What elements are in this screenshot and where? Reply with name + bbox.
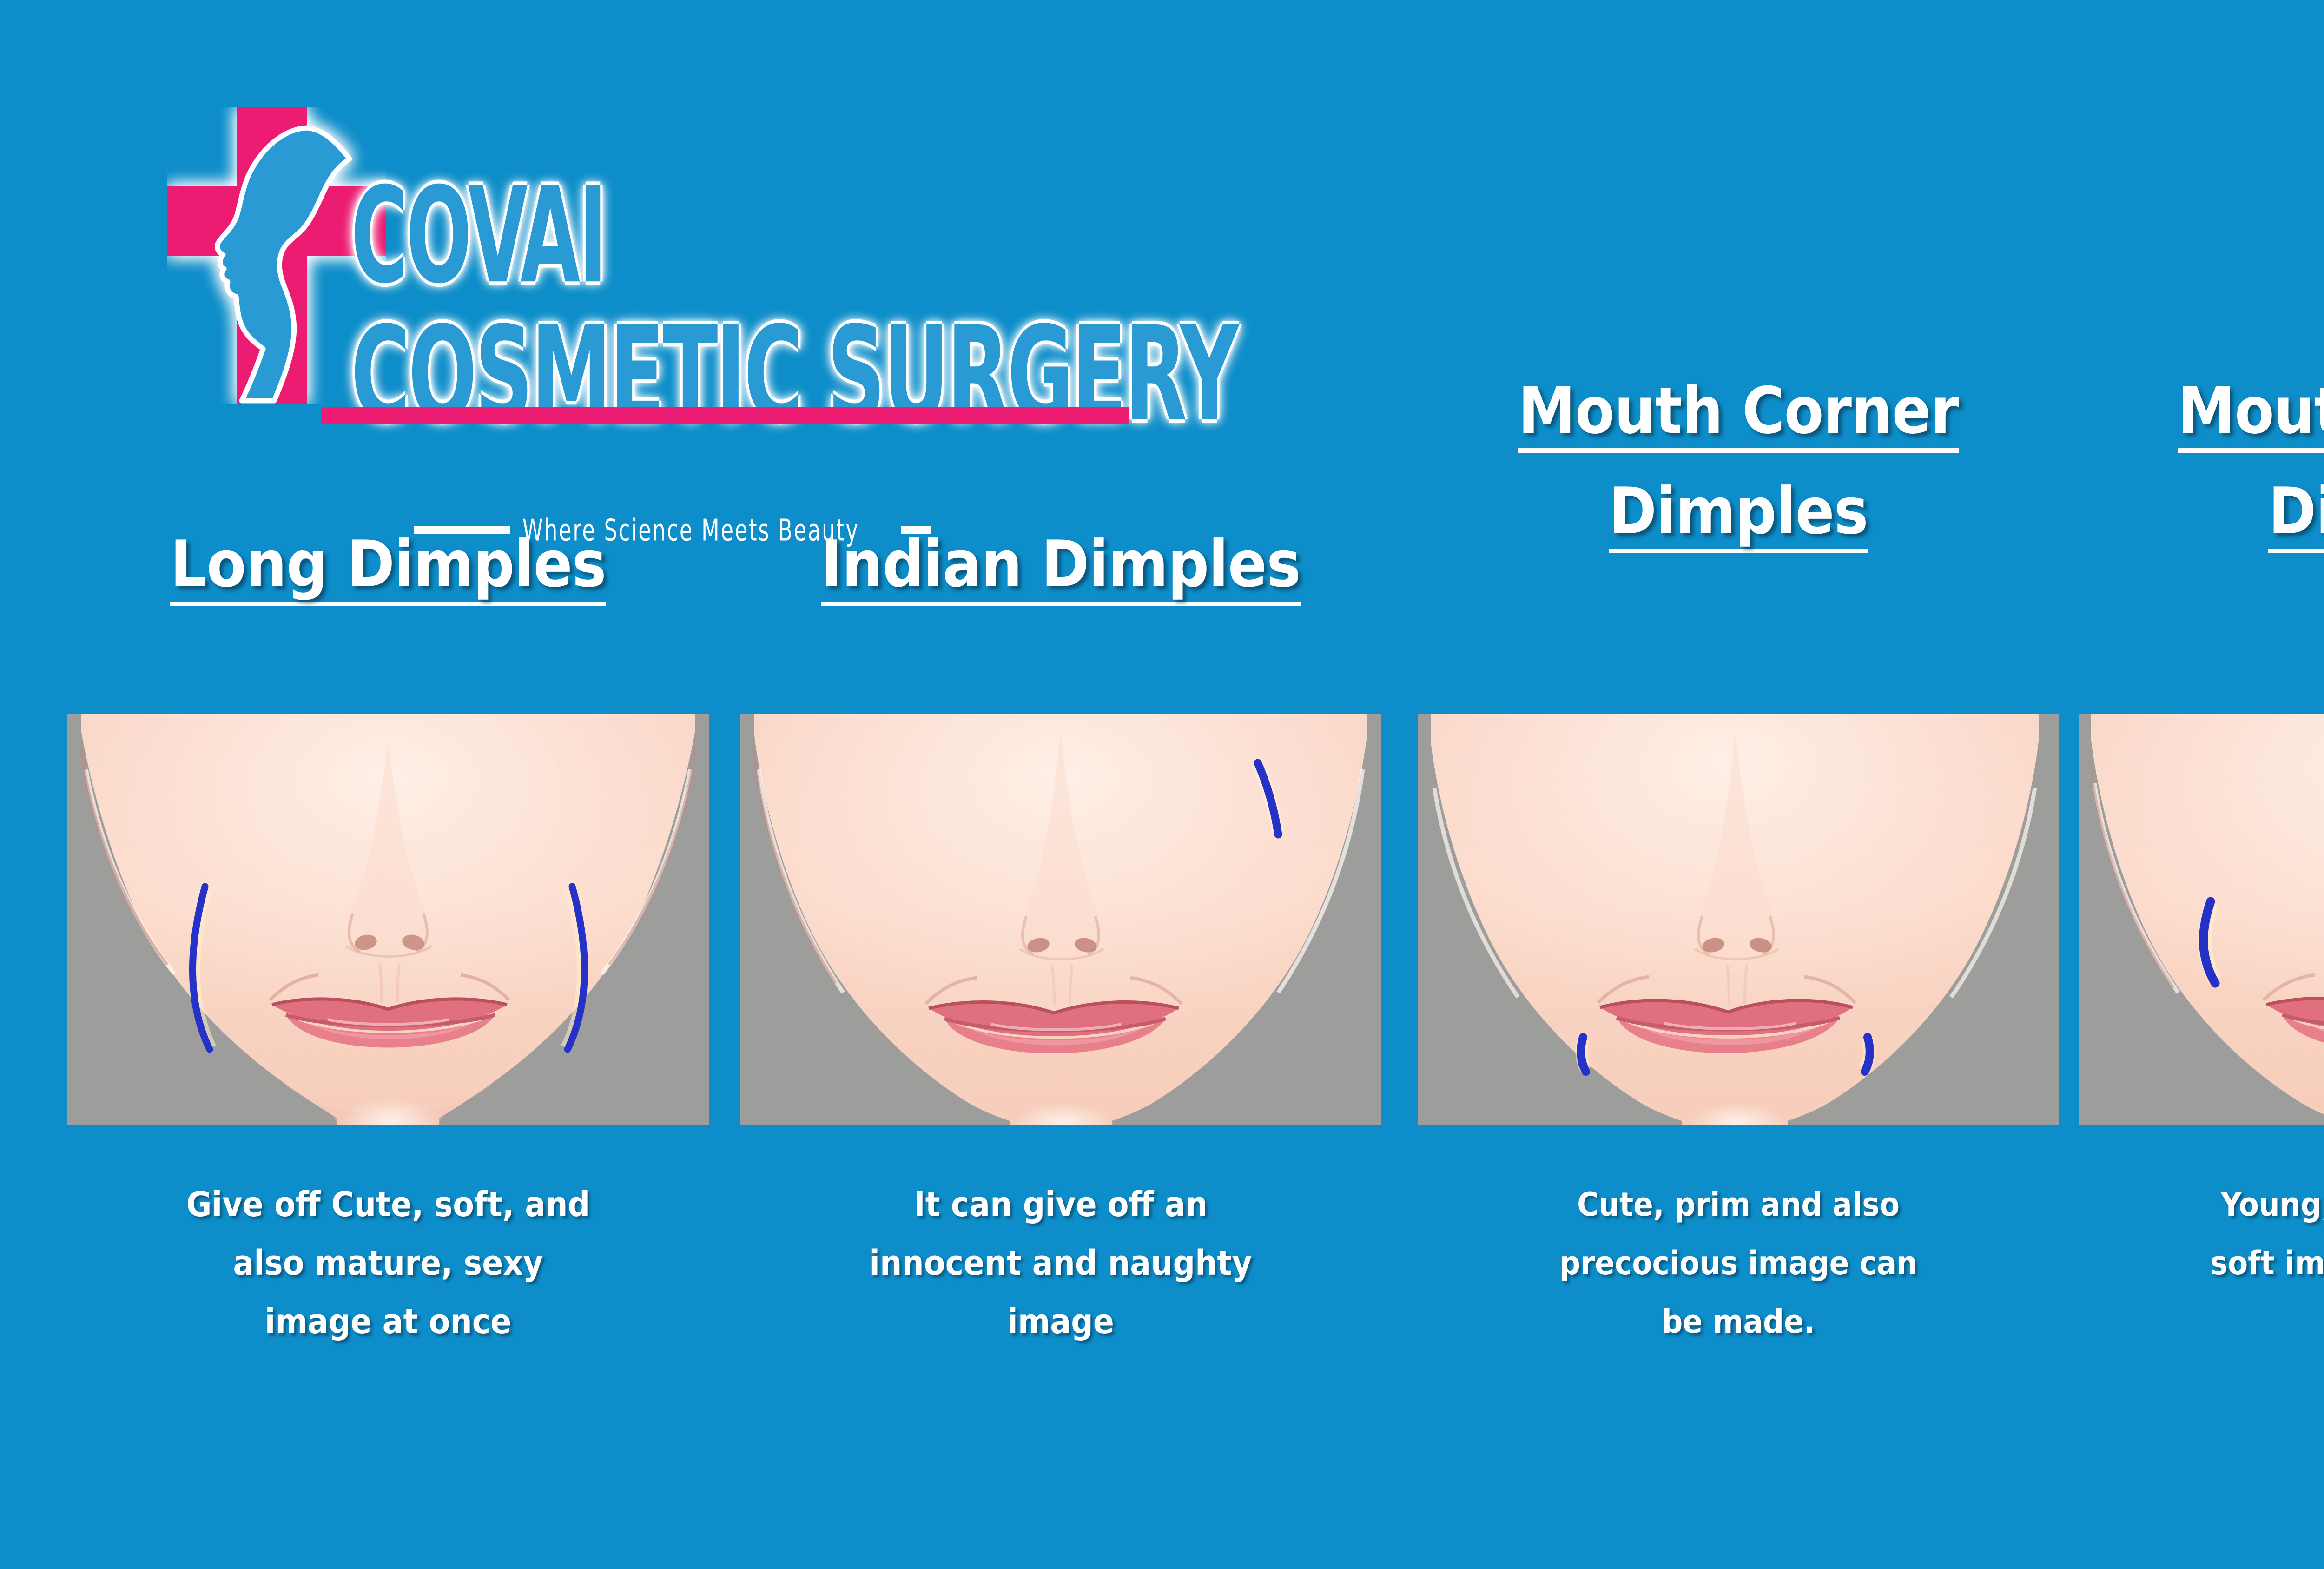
column-4-heading-line-1: Mouth Corner (2178, 377, 2324, 453)
dimple-column-2: Indian Dimples (740, 0, 1381, 1569)
column-2-face-image (740, 714, 1381, 1125)
column-4-heading-line-2: Dimples (2268, 477, 2324, 553)
column-4-caption: Young, cute, and also soft impression ca… (2079, 1175, 2324, 1351)
column-2-heading-line-1: Indian Dimples (821, 530, 1301, 606)
column-3-face-image (1418, 714, 2059, 1125)
column-4-face-image (2079, 714, 2324, 1125)
dimple-mark-right-corner (1865, 1037, 1870, 1072)
column-1-heading-line-1: Long Dimples (170, 530, 606, 606)
dimple-mark-left-corner (1581, 1037, 1586, 1072)
column-3-heading-line-2: Dimples (1609, 477, 1868, 553)
dimple-column-3: Mouth Corner Dimples (1418, 0, 2059, 1569)
column-3-caption: Cute, prim and also precocious image can… (1418, 1175, 2059, 1351)
column-1-caption: Give off Cute, soft, and also mature, se… (67, 1175, 709, 1351)
column-3-heading-line-1: Mouth Corner (1518, 377, 1959, 453)
dimple-column-4: Mouth Corner Dimples (2079, 0, 2324, 1569)
column-2-caption: It can give off an innocent and naughty … (740, 1175, 1381, 1351)
dimple-column-1: Long Dimples (67, 0, 709, 1569)
column-2-heading: Indian Dimples (740, 530, 1381, 606)
column-4-heading: Mouth Corner Dimples (2079, 377, 2324, 553)
poster-canvas: COVAI COSMETIC SURGERY Where Science Mee… (0, 0, 2324, 1569)
column-1-heading: Long Dimples (67, 530, 709, 606)
column-3-heading: Mouth Corner Dimples (1418, 377, 2059, 553)
column-1-face-image (67, 714, 709, 1125)
